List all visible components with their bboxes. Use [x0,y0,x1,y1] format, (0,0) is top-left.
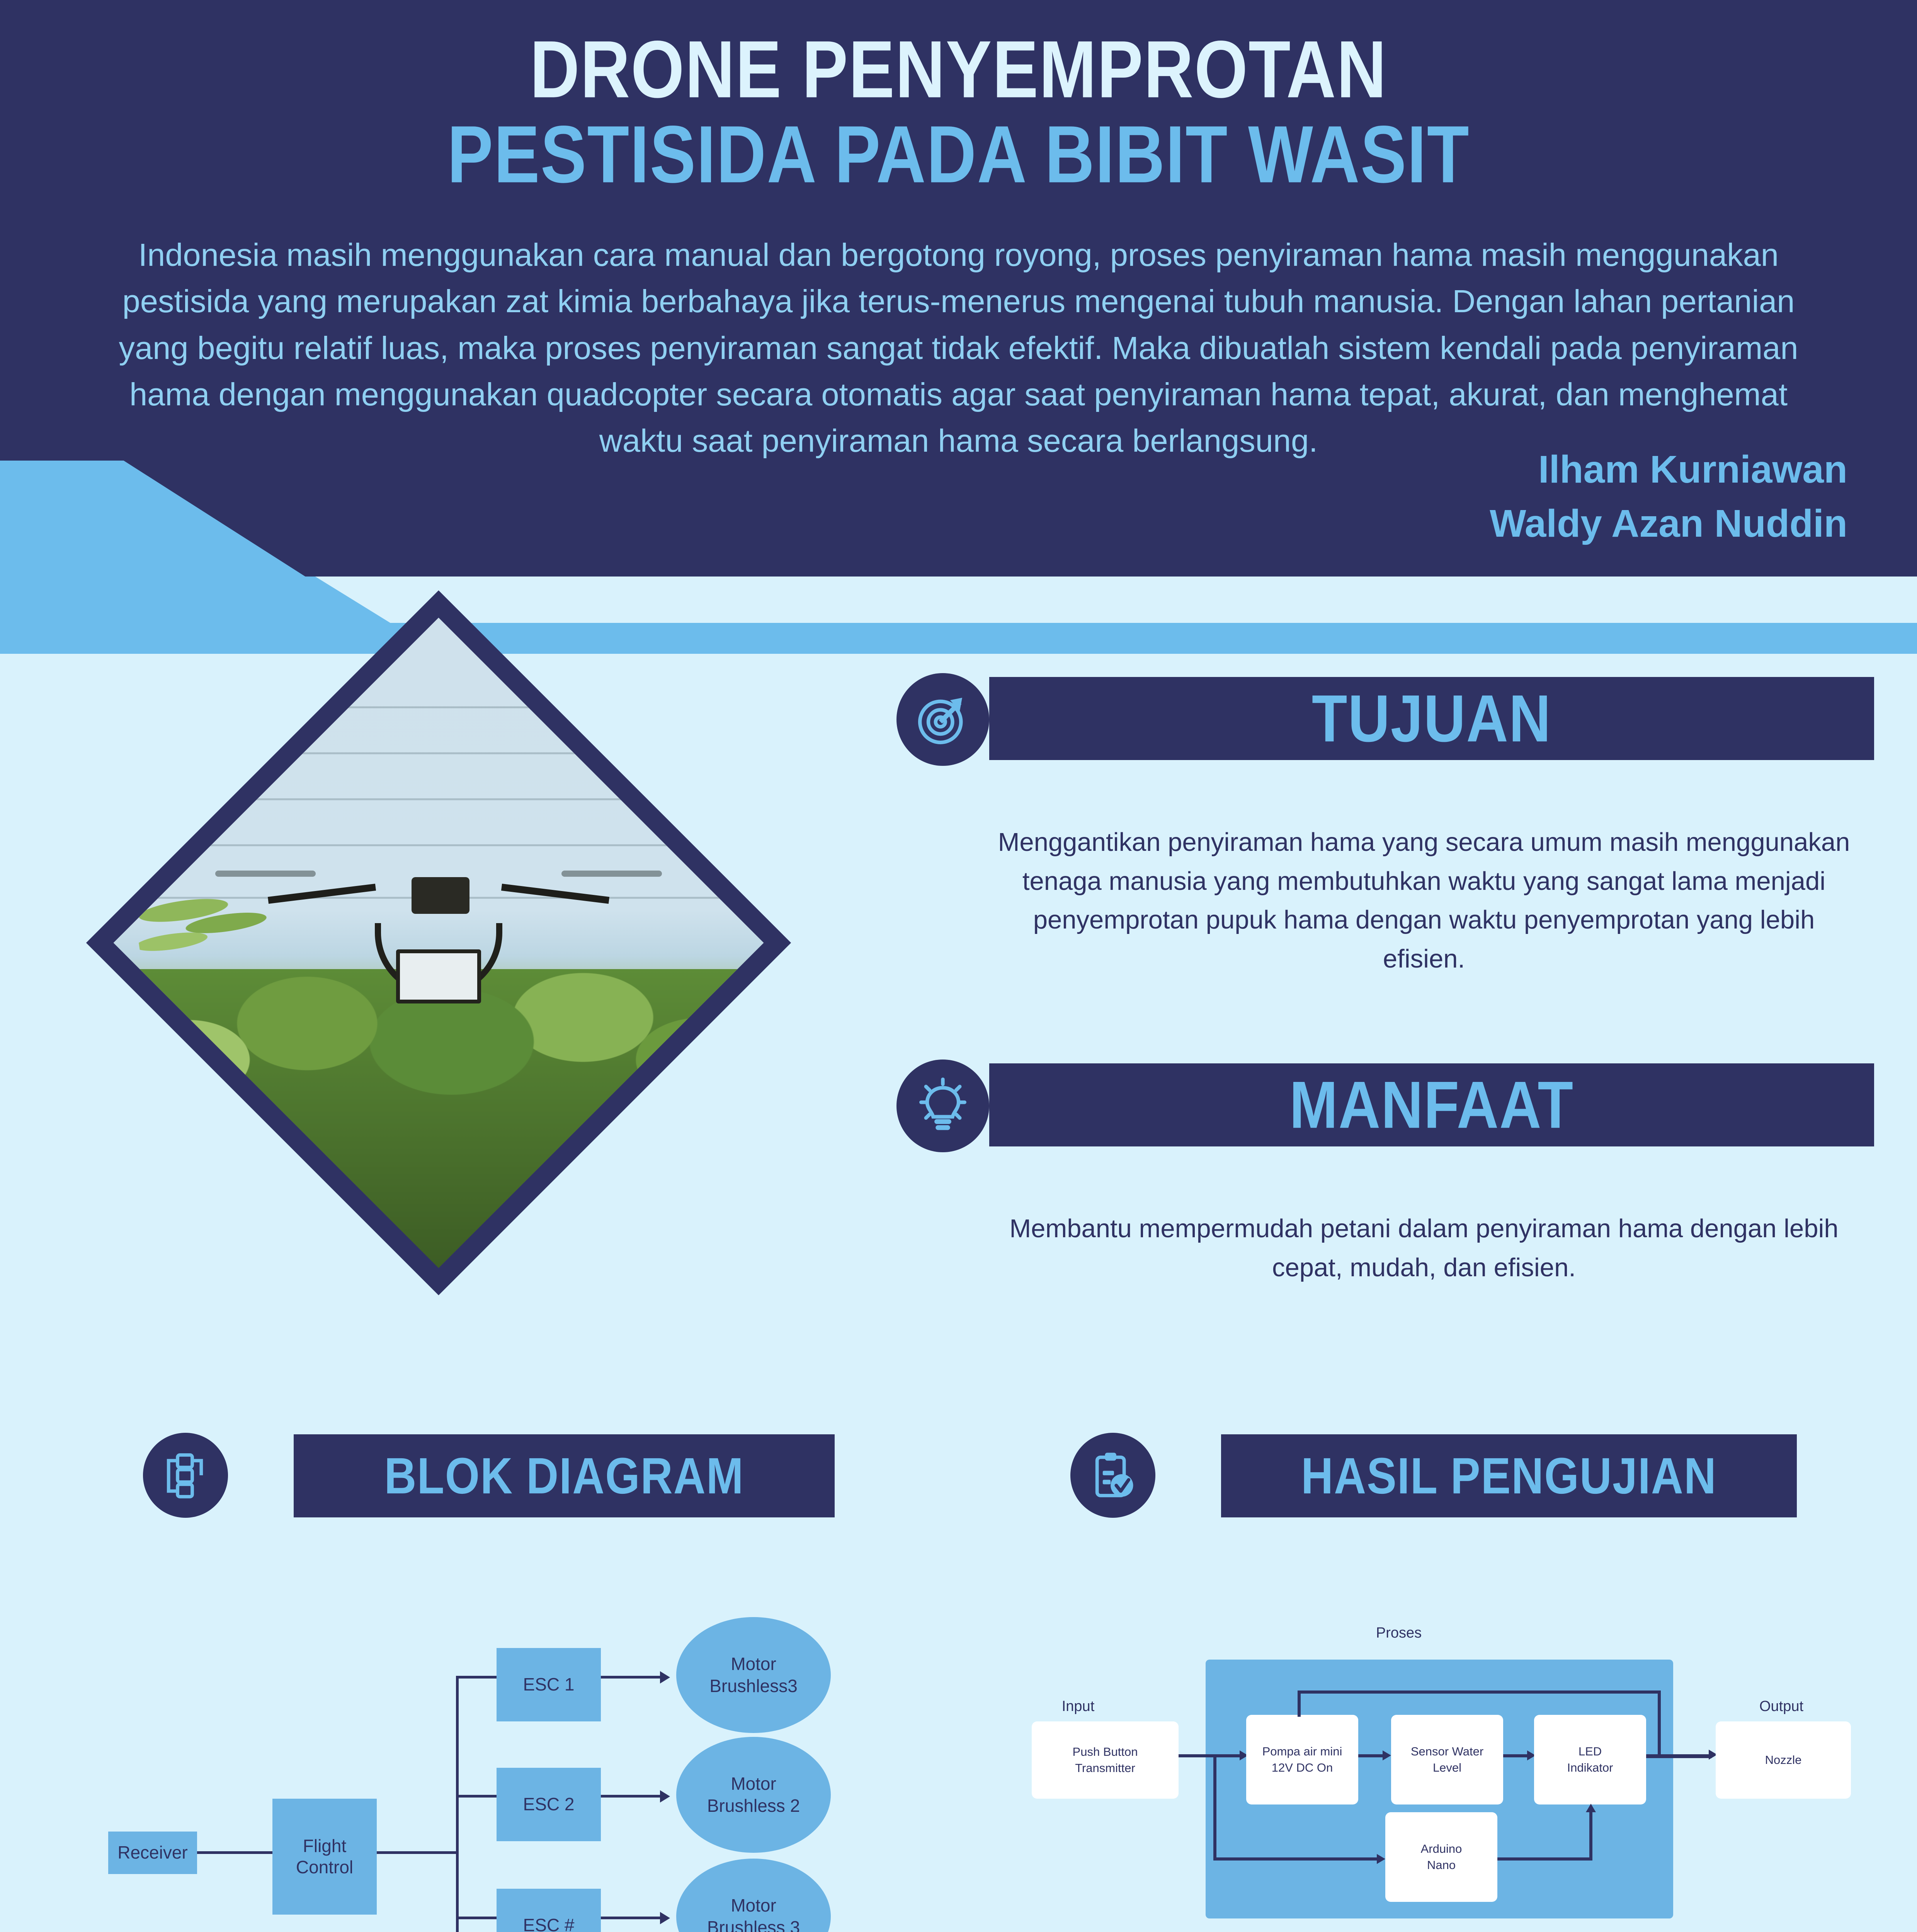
bd-node-motor2: Motor Brushless 2 [676,1737,831,1853]
section-title-manfaat: MANFAAT [1289,1066,1574,1143]
pd-label-input: Input [1039,1698,1117,1715]
target-arrow-icon [896,673,989,766]
poster-title-line-2: PESTISIDA PADA BIBIT WASIT [0,112,1917,197]
section-header-tujuan: TUJUAN [989,677,1874,760]
pd-node-led-indikator: LED Indikator [1534,1715,1646,1804]
drone-photo-frame [68,572,810,1314]
diamond-photo-clip [114,618,764,1268]
poster-header: DRONE PENYEMPROTAN PESTISIDA PADA BIBIT … [0,0,1917,461]
section-body-manfaat: Membantu mempermudah petani dalam penyir… [989,1209,1859,1287]
author-name-1: Ilham Kurniawan [1490,442,1847,497]
pd-node-pompa-air-mini: Pompa air mini 12V DC On [1246,1715,1358,1804]
section-title-hasil-pengujian: HASIL PENGUJIAN [1301,1447,1717,1505]
section-title-tujuan: TUJUAN [1312,680,1551,757]
section-title-blok-diagram: BLOK DIAGRAM [384,1447,744,1505]
clipboard-check-icon [1070,1433,1155,1518]
pd-label-output: Output [1739,1698,1824,1715]
proses-diagram-graphic: Proses Input Output Push Button Transmit… [1005,1604,1874,1932]
poster-title-line-1: DRONE PENYEMPROTAN [0,27,1917,112]
bd-node-motor3: Motor Brushless 3 [676,1859,831,1932]
pd-label-proses: Proses [1341,1625,1457,1641]
section-header-blok-diagram: BLOK DIAGRAM [294,1434,835,1517]
pd-node-sensor-water-level: Sensor Water Level [1391,1715,1503,1804]
bd-node-flight-control: Flight Control [272,1799,377,1915]
flowchart-icon [143,1433,228,1518]
drone-photo [114,618,764,1268]
pd-node-nozzle: Nozzle [1716,1721,1851,1799]
section-header-hasil-pengujian: HASIL PENGUJIAN [1221,1434,1797,1517]
bd-node-receiver: Receiver [108,1832,197,1874]
blok-diagram-graphic: Receiver Flight Control ESC 1 Motor Brus… [97,1604,869,1932]
lightbulb-icon [896,1060,989,1152]
diamond-border [86,590,791,1295]
poster-abstract: Indonesia masih menggunakan cara manual … [99,232,1818,464]
bd-node-motor1: Motor Brushless3 [676,1617,831,1733]
section-header-manfaat: MANFAAT [989,1063,1874,1146]
author-list: Ilham Kurniawan Waldy Azan Nuddin [1490,442,1847,551]
pd-node-arduino-nano: Arduino Nano [1385,1812,1497,1902]
bd-node-esc3: ESC # [497,1889,601,1932]
pd-node-push-button-transmitter: Push Button Transmitter [1032,1721,1179,1799]
bd-node-esc2: ESC 2 [497,1768,601,1841]
author-name-2: Waldy Azan Nuddin [1490,497,1847,551]
bd-node-esc1: ESC 1 [497,1648,601,1721]
section-body-tujuan: Menggantikan penyiraman hama yang secara… [989,823,1859,978]
